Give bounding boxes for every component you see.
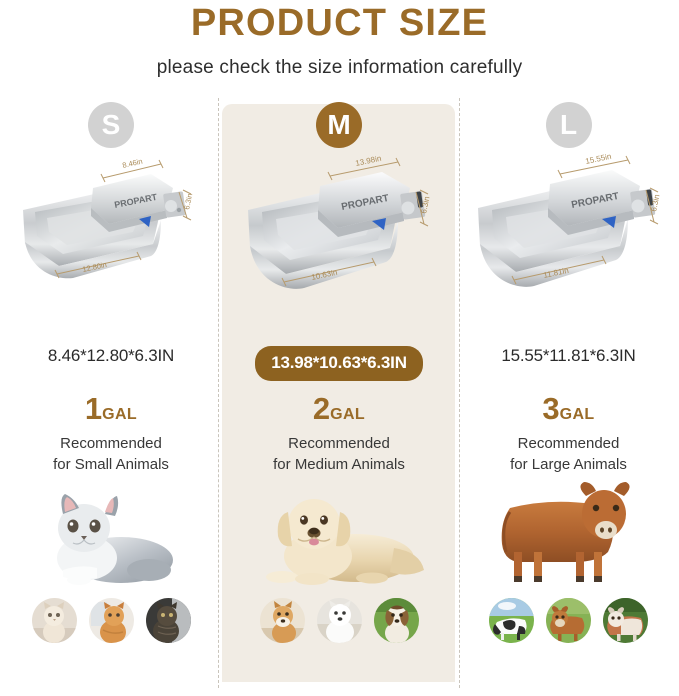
size-text-medium: 13.98*10.63*6.3IN (224, 346, 454, 381)
recommendation-line1-small: Recommended (0, 433, 222, 454)
hero-animal-small (0, 478, 222, 588)
page-title: PRODUCT SIZE (0, 2, 679, 44)
recommendation-line2-large: for Large Animals (458, 454, 679, 475)
size-text-large: 15.55*11.81*6.3IN (458, 346, 679, 366)
size-badge-large: L (546, 102, 592, 148)
thumbnail-row-medium (224, 598, 454, 643)
capacity-number-small: 1 (85, 391, 102, 426)
dimension-width-small: 8.46in (121, 157, 143, 170)
thumbnail-holstein-cow[interactable] (489, 598, 534, 643)
size-column-small: S (0, 96, 222, 696)
recommendation-line2-small: for Small Animals (0, 454, 222, 475)
thumbnail-row-small (0, 598, 222, 643)
page-subtitle: please check the size information carefu… (0, 57, 679, 79)
product-image-medium: PROPART 13.98in 6.3in 10.63in (224, 148, 454, 323)
thumbnail-row-large (458, 598, 679, 643)
size-badge-medium: M (316, 102, 362, 148)
thumbnail-white-samoyed-dog[interactable] (317, 598, 362, 643)
dimension-height-small: 6.3in (182, 193, 194, 211)
capacity-number-large: 3 (542, 391, 559, 426)
thumbnail-orange-tabby-cat[interactable] (89, 598, 134, 643)
capacity-unit-large: GAL (560, 406, 595, 423)
size-pill-medium: 13.98*10.63*6.3IN (255, 346, 423, 381)
thumbnail-red-white-cow[interactable] (603, 598, 648, 643)
hero-animal-medium (224, 478, 454, 588)
recommendation-medium: Recommended for Medium Animals (224, 433, 454, 475)
product-image-small: PROPART 8.46in 6.3in 12.80in (0, 148, 222, 323)
capacity-large: 3GAL (458, 391, 679, 427)
thumbnail-brown-cow[interactable] (546, 598, 591, 643)
thumbnail-dark-tabby-cat[interactable] (146, 598, 191, 643)
capacity-number-medium: 2 (313, 391, 330, 426)
size-text-small: 8.46*12.80*6.3IN (0, 346, 222, 366)
size-badge-small: S (88, 102, 134, 148)
capacity-small: 1GAL (0, 391, 222, 427)
recommendation-line2-medium: for Medium Animals (224, 454, 454, 475)
capacity-unit-small: GAL (102, 406, 137, 423)
size-column-large: L (458, 96, 679, 696)
product-size-infographic: PRODUCT SIZE please check the size infor… (0, 0, 679, 695)
capacity-unit-medium: GAL (330, 406, 365, 423)
thumbnail-beagle-dog[interactable] (374, 598, 419, 643)
capacity-medium: 2GAL (224, 391, 454, 427)
thumbnail-shiba-inu-dog[interactable] (260, 598, 305, 643)
thumbnail-cream-cat[interactable] (32, 598, 77, 643)
recommendation-large: Recommended for Large Animals (458, 433, 679, 475)
product-image-large: PROPART 15.55in 6.3in 11.81in (458, 148, 679, 323)
recommendation-line1-medium: Recommended (224, 433, 454, 454)
recommendation-small: Recommended for Small Animals (0, 433, 222, 475)
recommendation-line1-large: Recommended (458, 433, 679, 454)
hero-animal-large (458, 478, 679, 588)
size-column-medium: M (224, 96, 454, 696)
